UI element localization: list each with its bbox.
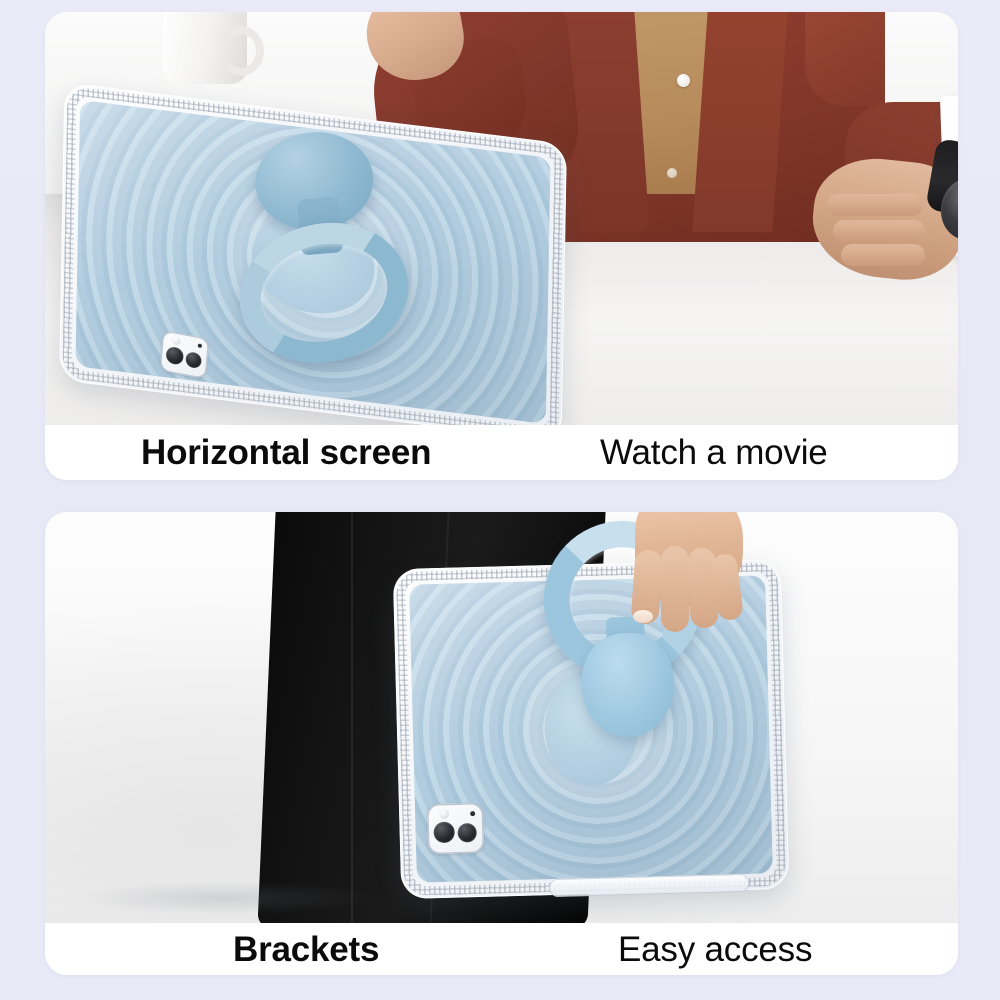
camera-lens <box>433 822 455 844</box>
finger <box>661 546 689 632</box>
ring-stand-deployed <box>215 124 424 370</box>
camera-lens <box>457 823 476 842</box>
caption-watch-a-movie: Watch a movie <box>600 435 828 470</box>
panel-brackets[interactable]: Brackets Easy access <box>45 512 958 975</box>
ring-highlight <box>226 206 423 379</box>
caption-brackets: Brackets <box>233 932 379 967</box>
camera-lens <box>165 346 184 366</box>
finger <box>841 244 925 266</box>
carrying-hand <box>617 514 749 626</box>
finger <box>827 194 923 216</box>
finger <box>833 220 925 242</box>
caption-band-top: Horizontal screen Watch a movie <box>45 425 958 480</box>
coffee-mug <box>163 12 247 84</box>
jeans-seam <box>351 512 353 923</box>
flash-icon <box>439 809 449 819</box>
camera-cutout <box>427 803 484 854</box>
photo-horizontal-screen <box>45 12 958 425</box>
caption-easy-access: Easy access <box>618 932 812 967</box>
caption-band-bottom: Brackets Easy access <box>45 923 958 975</box>
camera-cutout <box>160 330 210 379</box>
desk-scene <box>45 12 958 425</box>
fingernail <box>633 610 653 623</box>
panel-horizontal-screen[interactable]: Horizontal screen Watch a movie <box>45 12 958 480</box>
photo-brackets <box>45 512 958 923</box>
shirt-button-lower <box>667 168 677 178</box>
floor-shadow <box>75 881 375 915</box>
microphone-icon <box>198 343 202 348</box>
product-feature-page: Horizontal screen Watch a movie <box>0 0 1000 1000</box>
shirt-button <box>677 74 690 87</box>
shoulder-fold <box>805 12 885 106</box>
ring-knob <box>581 632 676 738</box>
studio-scene <box>45 512 958 923</box>
microphone-icon <box>470 811 475 816</box>
flash-icon <box>172 336 181 346</box>
caption-horizontal-screen: Horizontal screen <box>141 435 431 470</box>
camera-lens <box>185 351 202 369</box>
